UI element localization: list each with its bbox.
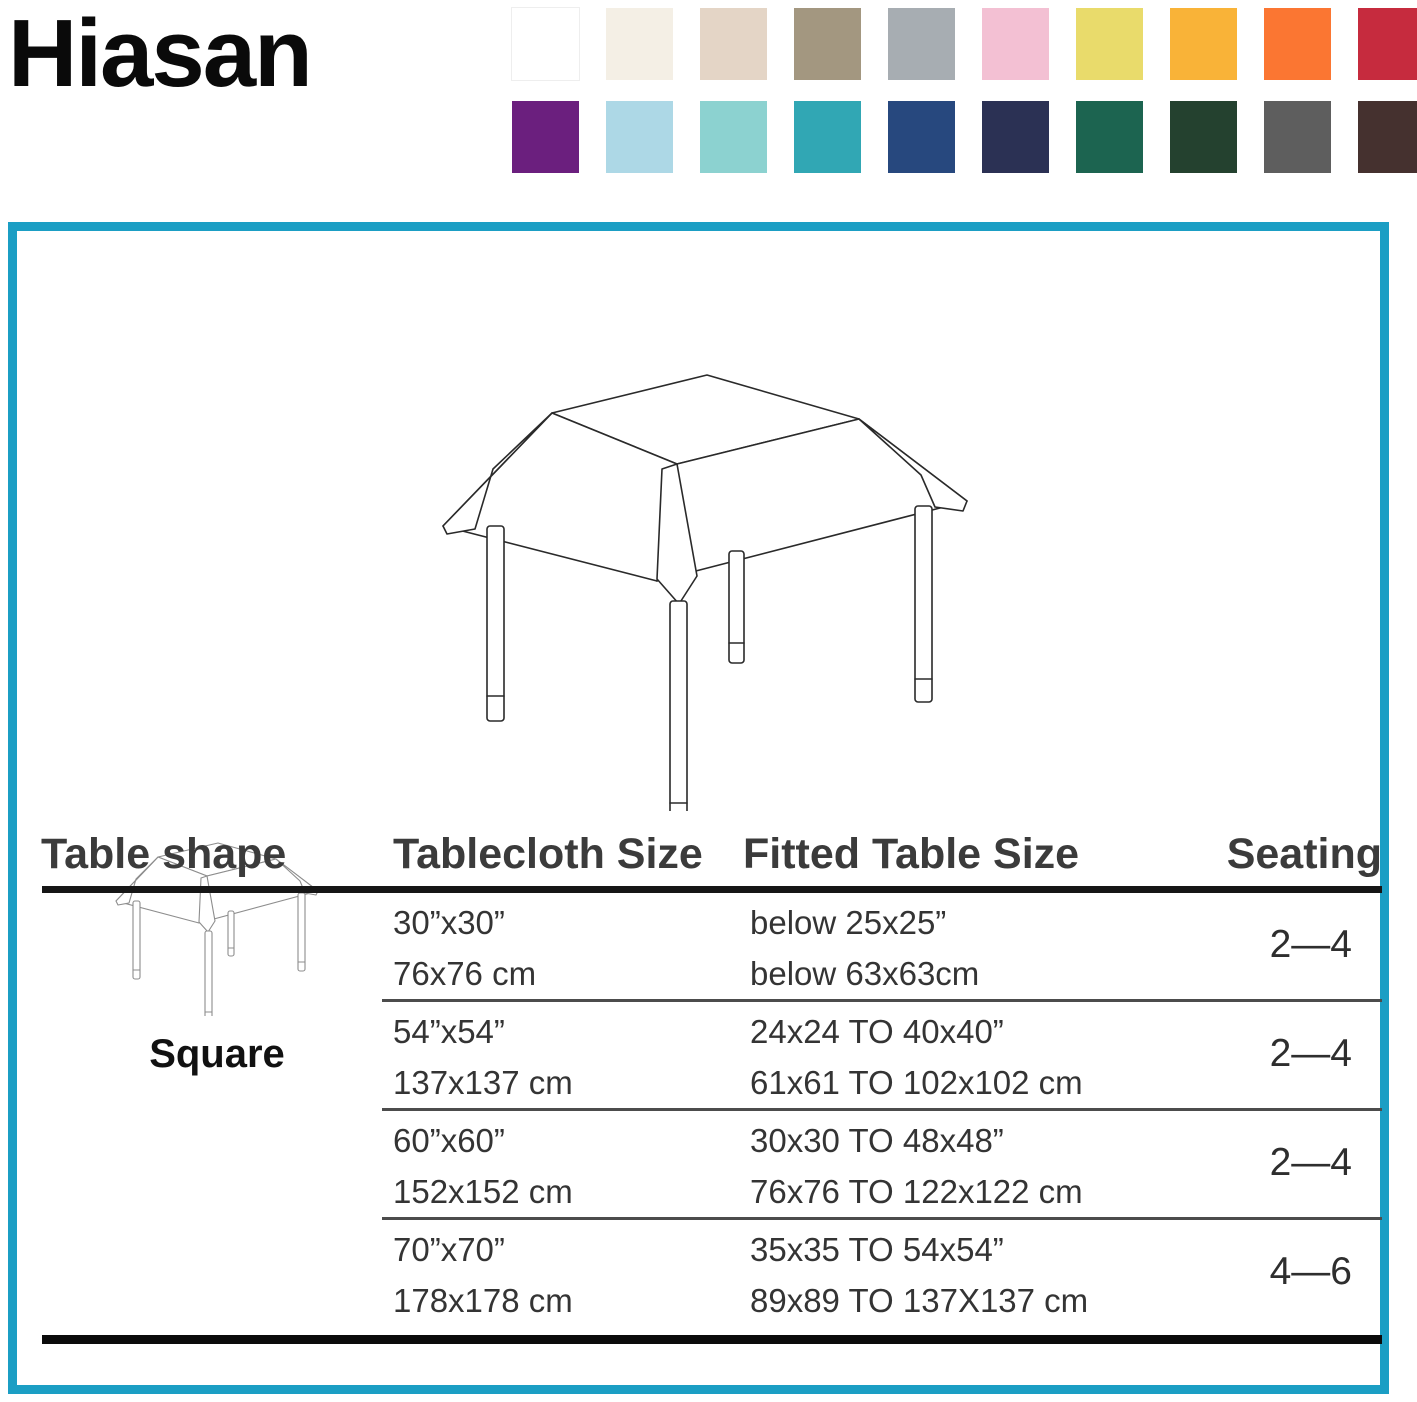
cloth-size-cm: 76x76 cm	[393, 955, 536, 993]
color-swatch-espresso[interactable]	[1358, 101, 1417, 173]
color-swatch-navy[interactable]	[982, 101, 1049, 173]
color-swatch-beige[interactable]	[700, 8, 767, 80]
column-header-seating: Seating	[1227, 833, 1382, 876]
fitted-size-cm: 89x89 TO 137X137 cm	[750, 1282, 1088, 1320]
column-header-tablecloth-size: Tablecloth Size	[393, 833, 703, 876]
color-swatch-light-blue[interactable]	[606, 101, 673, 173]
color-swatch-orange[interactable]	[1264, 8, 1331, 80]
table-row: 30”x30”76x76 cmbelow 25x25”below 63x63cm…	[27, 893, 1382, 1002]
cell-seating: 2—4	[1270, 1141, 1352, 1185]
cell-seating: 2—4	[1270, 923, 1352, 967]
fitted-size-inches: below 25x25”	[750, 904, 946, 942]
color-swatch-emerald[interactable]	[1076, 101, 1143, 173]
color-swatch-white[interactable]	[512, 8, 579, 80]
fitted-size-inches: 30x30 TO 48x48”	[750, 1122, 1004, 1160]
column-header-table-shape: Table shape	[41, 833, 286, 876]
color-swatch-taupe[interactable]	[794, 8, 861, 80]
color-swatch-hunter-green[interactable]	[1170, 101, 1237, 173]
color-swatch-denim-blue[interactable]	[888, 101, 955, 173]
fitted-size-inches: 35x35 TO 54x54”	[750, 1231, 1004, 1269]
swatch-row-1	[512, 8, 1402, 80]
table-row: 54”x54”137x137 cm24x24 TO 40x40”61x61 TO…	[27, 1002, 1382, 1111]
cloth-size-cm: 137x137 cm	[393, 1064, 573, 1102]
brand-logo: Hiasan	[8, 6, 311, 102]
size-spec-table: Table shape Tablecloth Size Fitted Table…	[27, 814, 1382, 1344]
table-bottom-divider	[42, 1335, 1382, 1344]
cloth-size-inches: 30”x30”	[393, 904, 505, 942]
color-swatch-ivory[interactable]	[606, 8, 673, 80]
color-swatch-grey[interactable]	[888, 8, 955, 80]
cell-seating: 4—6	[1270, 1250, 1352, 1294]
color-swatch-panel	[512, 8, 1402, 176]
cloth-size-cm: 178x178 cm	[393, 1282, 573, 1320]
color-swatch-purple[interactable]	[512, 101, 579, 173]
color-swatch-pink[interactable]	[982, 8, 1049, 80]
color-swatch-yellow[interactable]	[1076, 8, 1143, 80]
cell-seating: 2—4	[1270, 1032, 1352, 1076]
color-swatch-dark-grey[interactable]	[1264, 101, 1331, 173]
brand-header: Hiasan	[0, 0, 1417, 200]
color-swatch-gold[interactable]	[1170, 8, 1237, 80]
cloth-size-inches: 70”x70”	[393, 1231, 505, 1269]
color-swatch-teal[interactable]	[794, 101, 861, 173]
fitted-size-inches: 24x24 TO 40x40”	[750, 1013, 1004, 1051]
header-divider	[42, 886, 1382, 893]
fitted-size-cm: below 63x63cm	[750, 955, 979, 993]
table-header-row: Table shape Tablecloth Size Fitted Table…	[27, 814, 1382, 876]
square-tablecloth-illustration	[407, 351, 1007, 811]
fitted-size-cm: 76x76 TO 122x122 cm	[750, 1173, 1083, 1211]
cloth-size-inches: 54”x54”	[393, 1013, 505, 1051]
color-swatch-red[interactable]	[1358, 8, 1417, 80]
color-swatch-aqua[interactable]	[700, 101, 767, 173]
swatch-row-2	[512, 101, 1402, 173]
cloth-size-cm: 152x152 cm	[393, 1173, 573, 1211]
fitted-size-cm: 61x61 TO 102x102 cm	[750, 1064, 1083, 1102]
table-body: 30”x30”76x76 cmbelow 25x25”below 63x63cm…	[27, 893, 1382, 1329]
cloth-size-inches: 60”x60”	[393, 1122, 505, 1160]
product-size-card: Square Table shape Tablecloth Size Fitte…	[8, 222, 1389, 1394]
table-row: 70”x70”178x178 cm35x35 TO 54x54”89x89 TO…	[27, 1220, 1382, 1329]
table-row: 60”x60”152x152 cm30x30 TO 48x48”76x76 TO…	[27, 1111, 1382, 1220]
column-header-fitted-table-size: Fitted Table Size	[743, 833, 1079, 876]
